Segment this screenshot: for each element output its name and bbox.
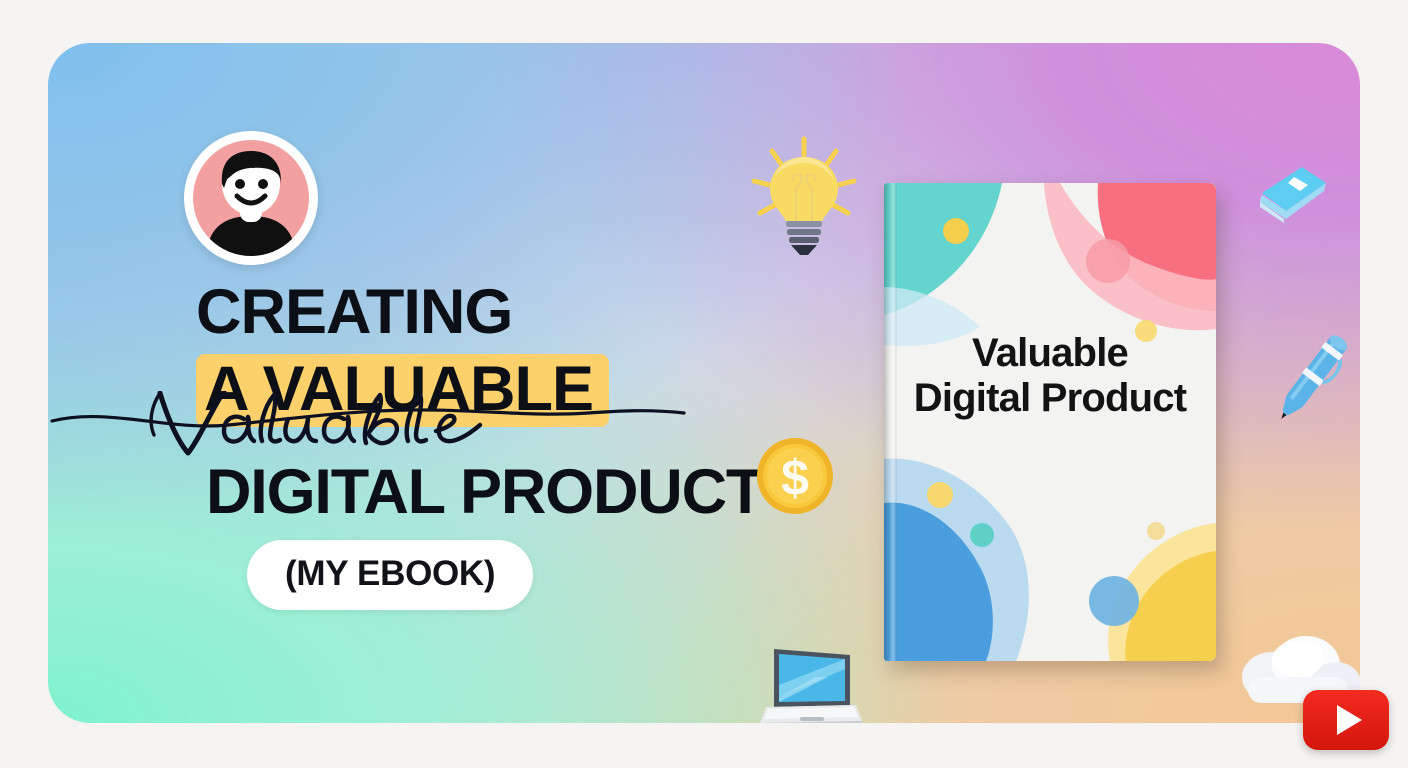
book-title-line-2: Digital Product	[896, 376, 1204, 421]
headline-line-a-valuable: A VALUABLE	[196, 354, 609, 427]
profile-avatar	[184, 131, 318, 265]
headline-highlight-wrapper: A VALUABLE	[196, 354, 609, 427]
book-cover-title: Valuable Digital Product	[884, 331, 1216, 421]
ebook-cover-mockup: Valuable Digital Product	[884, 183, 1216, 661]
headline-block: CREATING A VALUABLE DIGITAL PRODUCT	[196, 281, 816, 524]
pen-icon	[1264, 327, 1360, 429]
laptop-icon	[756, 645, 866, 723]
play-triangle-icon	[1337, 705, 1362, 735]
book-title-line-1: Valuable	[896, 331, 1204, 376]
avatar-person-icon	[193, 140, 309, 256]
headline-line-digital-product: DIGITAL PRODUCT	[206, 461, 816, 524]
thumbnail-canvas: CREATING A VALUABLE DIGITAL PRODUCT	[0, 0, 1408, 768]
my-ebook-pill: (MY EBOOK)	[247, 540, 533, 610]
book-icon	[1254, 159, 1330, 231]
lightbulb-icon	[746, 135, 862, 257]
headline-line-creating: CREATING	[196, 281, 816, 344]
youtube-play-button[interactable]	[1303, 690, 1389, 750]
book-spine	[884, 183, 897, 661]
gradient-card: CREATING A VALUABLE DIGITAL PRODUCT	[48, 43, 1360, 723]
coin-dollar-icon: $	[754, 435, 836, 517]
book-cover-artwork	[884, 183, 1216, 661]
svg-text:$: $	[781, 450, 809, 506]
avatar-circle-background	[193, 140, 309, 256]
